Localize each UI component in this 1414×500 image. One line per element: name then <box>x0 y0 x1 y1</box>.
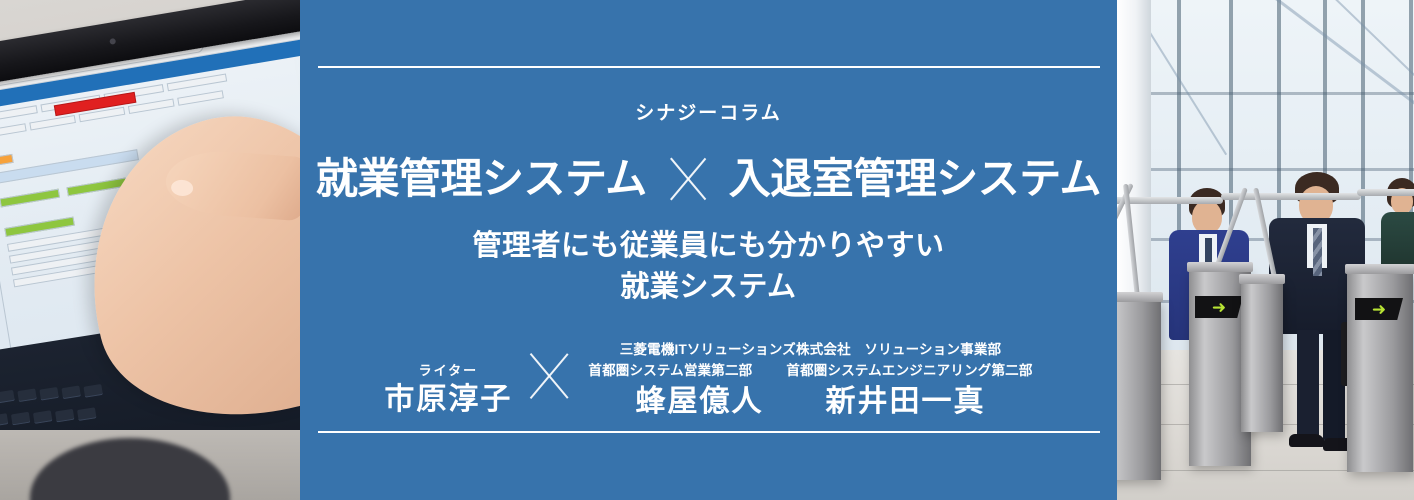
gate-rail-right <box>1357 189 1414 196</box>
webcam-icon <box>109 38 116 45</box>
company-name: 三菱電機ITソリューションズ株式会社 ソリューション事業部 <box>620 340 1002 361</box>
gate-arrow-sign: ➜ <box>1195 296 1243 318</box>
subtitle-line-2: 就業システム <box>300 267 1117 308</box>
turnstile-gate-4: ➜ <box>1347 272 1413 472</box>
title-row: 就業管理システム 入退室管理システム <box>300 152 1117 206</box>
turnstile-gate-1 <box>1117 300 1161 480</box>
department-1: 首都圏システム営業第二部 <box>588 361 752 382</box>
subtitle: 管理者にも従業員にも分かりやすい 就業システム <box>300 226 1117 308</box>
credit-writer: ライター 市原淳子 <box>384 361 520 420</box>
gate-rail-left <box>1117 197 1223 204</box>
synergy-column-banner: シナジーコラム 就業管理システム 入退室管理システム 管理者にも従業員にも分かり… <box>0 0 1414 500</box>
writer-role-label: ライター <box>419 361 478 381</box>
photo-laptop-timecard <box>0 0 300 500</box>
eyebrow-label: シナジーコラム <box>300 104 1117 123</box>
credit-company-group: 三菱電機ITソリューションズ株式会社 ソリューション事業部 首都圏システム営業第… <box>578 340 1032 420</box>
writer-name: 市原淳子 <box>384 381 512 419</box>
gate-top-panel <box>1117 292 1163 302</box>
speaker-name-1: 蜂屋億人 <box>635 383 763 421</box>
credits-row: ライター 市原淳子 三菱電機ITソリューションズ株式会社 ソリューション事業部 … <box>300 325 1117 420</box>
gate-arrow-sign: ➜ <box>1355 298 1403 320</box>
cross-separator-icon <box>661 152 715 206</box>
gate-top-panel <box>1239 274 1285 284</box>
title-right: 入退室管理システム <box>729 156 1101 201</box>
subtitle-line-1: 管理者にも従業員にも分かりやすい <box>300 226 1117 267</box>
title-left: 就業管理システム <box>316 156 647 201</box>
divider-bottom <box>318 431 1100 433</box>
speaker-names-row: 蜂屋億人 新井田一真 <box>588 383 1032 421</box>
photo-office-turnstiles: ➜ ➜ <box>1117 0 1414 500</box>
speaker-name-2: 新井田一真 <box>825 383 985 421</box>
arrow-right-icon: ➜ <box>1212 299 1226 316</box>
cross-separator-small-icon <box>526 347 572 405</box>
credits-separator <box>520 347 578 420</box>
arrow-right-icon: ➜ <box>1372 301 1386 318</box>
turnstile-gate-3 <box>1241 282 1283 432</box>
gate-top-panel <box>1187 262 1253 272</box>
gate-top-panel <box>1345 264 1414 274</box>
divider-top <box>318 66 1100 68</box>
headline-panel: シナジーコラム 就業管理システム 入退室管理システム 管理者にも従業員にも分かり… <box>300 0 1117 500</box>
department-row: 首都圏システム営業第二部 首都圏システムエンジニアリング第二部 <box>588 361 1032 382</box>
department-2: 首都圏システムエンジニアリング第二部 <box>786 361 1032 382</box>
